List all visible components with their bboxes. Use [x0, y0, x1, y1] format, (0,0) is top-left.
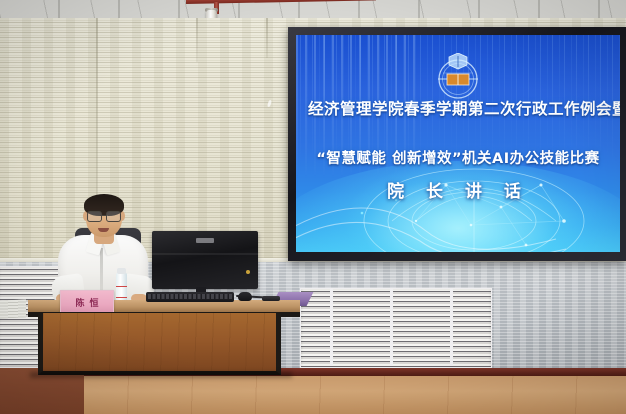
- led-display-frame: 经济管理学院春季学期第二次行政工作例会暨 “智慧赋能 创新增效”机关AI办公技能…: [288, 27, 626, 261]
- led-display-screen: 经济管理学院春季学期第二次行政工作例会暨 “智慧赋能 创新增效”机关AI办公技能…: [296, 35, 620, 252]
- mouse: [238, 292, 252, 301]
- remote-control: [262, 296, 280, 301]
- university-emblem-icon: [435, 53, 481, 101]
- paper-stack: [0, 299, 26, 318]
- led-headline-line-2: “智慧赋能 创新增效”机关AI办公技能比赛: [296, 147, 620, 168]
- wall-seam-mid: [196, 18, 198, 62]
- water-bottle-cap: [117, 268, 126, 274]
- keyboard-keys: [148, 294, 232, 299]
- ceiling-grid: [0, 0, 626, 18]
- vent-divider-1: [330, 288, 333, 366]
- nameplate-text: 陈恒: [70, 296, 103, 309]
- desktop-monitor: [152, 231, 258, 289]
- vent-divider-3: [450, 288, 453, 366]
- room-photo-scene: 经济管理学院春季学期第二次行政工作例会暨 “智慧赋能 创新增效”机关AI办公技能…: [0, 0, 626, 414]
- led-headline-line-1: 经济管理学院春季学期第二次行政工作例会暨: [306, 97, 620, 119]
- desk-shadow: [30, 372, 292, 378]
- wall-seam-right: [266, 18, 268, 58]
- wall-vent-right: [300, 288, 492, 368]
- monitor-band: [152, 253, 258, 255]
- water-bottle-label: [116, 286, 127, 298]
- glasses-lens-right: [106, 211, 121, 222]
- desk-front-panel: [38, 313, 281, 375]
- led-headline-line-3: 院 长 讲 话: [296, 177, 620, 202]
- glasses-lens-left: [87, 211, 102, 222]
- vent-divider-2: [390, 288, 393, 366]
- floor: [0, 376, 626, 414]
- glasses-icon: [87, 211, 121, 220]
- monitor-indicator-light: [246, 270, 250, 274]
- monitor-logo: [196, 238, 214, 243]
- keyboard: [146, 292, 234, 302]
